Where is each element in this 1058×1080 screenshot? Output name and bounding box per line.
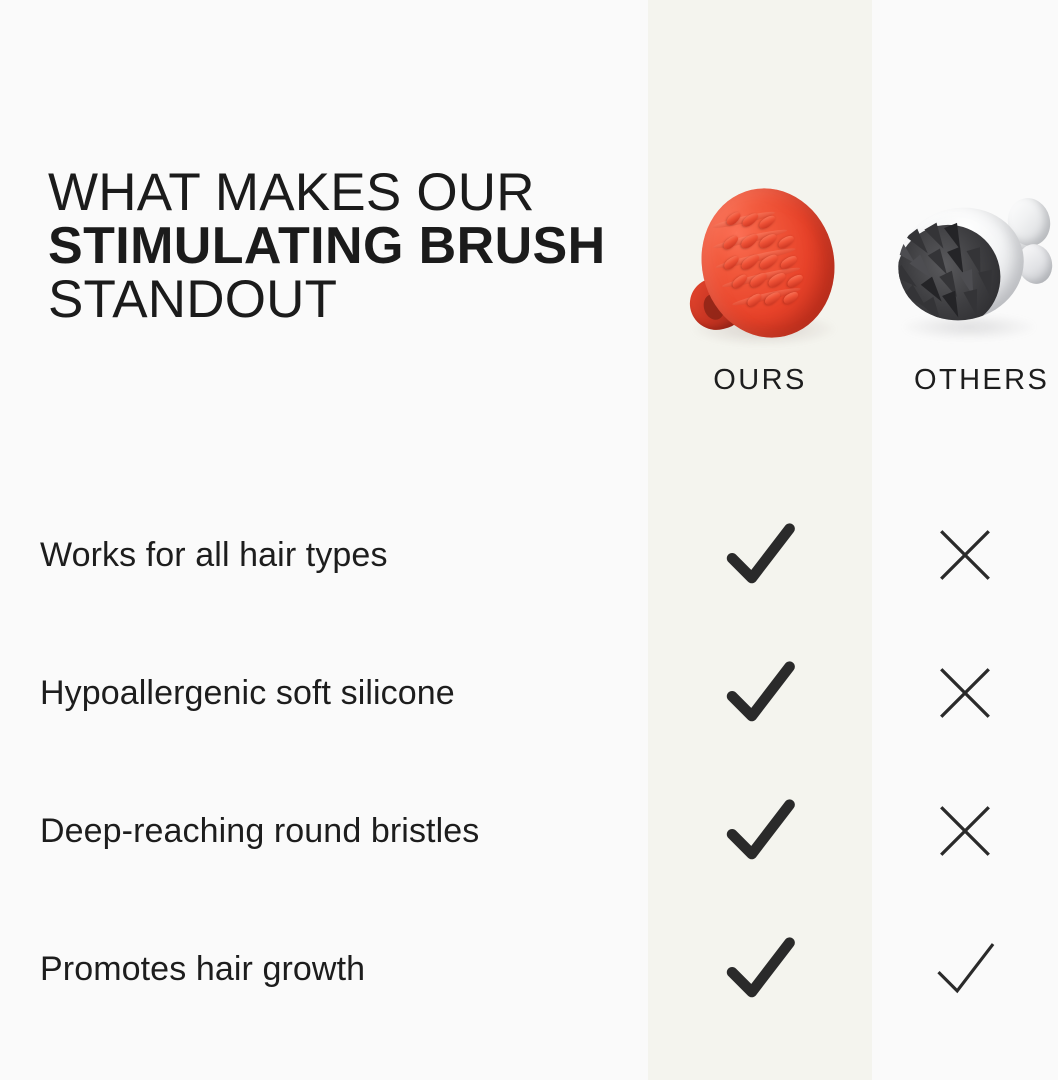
- check-icon: [719, 928, 801, 1010]
- feature-label: Deep-reaching round bristles: [40, 781, 630, 881]
- column-header-others: OTHERS: [872, 178, 1058, 408]
- page-title-line-2: STIMULATING BRUSH: [48, 220, 648, 273]
- page-title-line-1: WHAT MAKES OUR: [48, 166, 648, 220]
- cross-icon: [932, 522, 998, 588]
- page-title: WHAT MAKES OUR STIMULATING BRUSH STANDOU…: [48, 166, 648, 327]
- comparison-infographic: WHAT MAKES OUR STIMULATING BRUSH STANDOU…: [0, 0, 1058, 1080]
- column-label-others: OTHERS: [872, 364, 1058, 397]
- cross-icon: [932, 798, 998, 864]
- check-icon: [719, 652, 801, 734]
- cell-ours-check: [648, 919, 872, 1019]
- product-image-ours: [648, 178, 872, 360]
- cell-ours-check: [648, 781, 872, 881]
- check-icon: [719, 514, 801, 596]
- column-label-ours: OURS: [648, 364, 872, 397]
- table-row: Promotes hair growth: [0, 919, 1058, 1019]
- table-row: Deep-reaching round bristles: [0, 781, 1058, 881]
- cell-ours-check: [648, 643, 872, 743]
- cell-others-cross: [872, 505, 1058, 605]
- check-icon: [926, 930, 1004, 1008]
- page-title-line-3: STANDOUT: [48, 273, 648, 327]
- product-image-others: [872, 178, 1058, 360]
- table-row: Hypoallergenic soft silicone: [0, 643, 1058, 743]
- cell-others-check-thin: [872, 919, 1058, 1019]
- red-silicone-scalp-brush-icon: [684, 186, 844, 356]
- cell-ours-check: [648, 505, 872, 605]
- cross-icon: [932, 660, 998, 726]
- grey-spiky-scalp-brush-icon: [890, 190, 1058, 350]
- check-icon: [719, 790, 801, 872]
- column-header-ours: OURS: [648, 178, 872, 408]
- feature-label: Works for all hair types: [40, 505, 630, 605]
- cell-others-cross: [872, 781, 1058, 881]
- cell-others-cross: [872, 643, 1058, 743]
- table-row: Works for all hair types: [0, 505, 1058, 605]
- feature-label: Promotes hair growth: [40, 919, 630, 1019]
- feature-label: Hypoallergenic soft silicone: [40, 643, 630, 743]
